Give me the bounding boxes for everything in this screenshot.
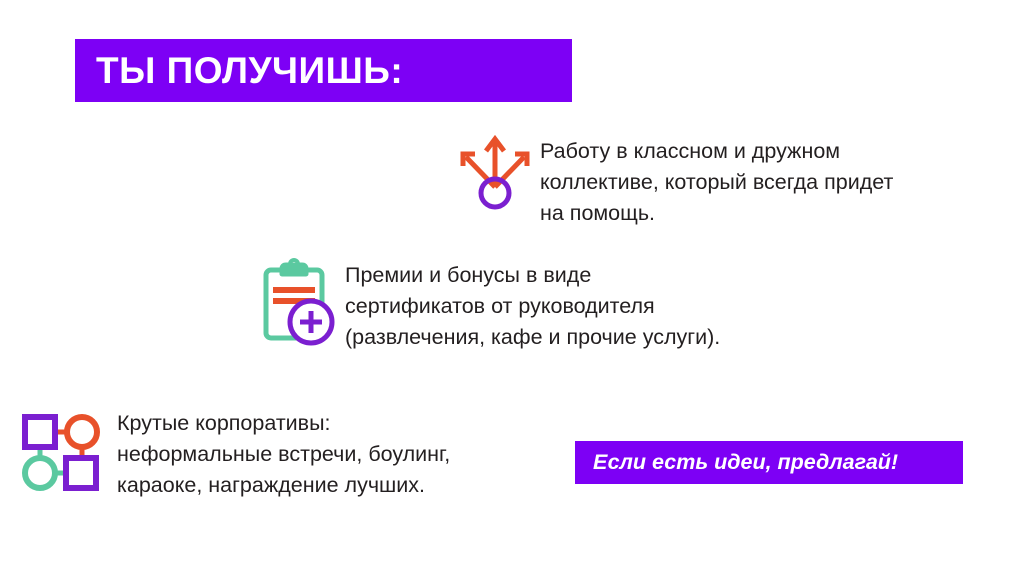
benefit-text-line: неформальные встречи, боулинг, xyxy=(117,439,450,470)
page-title-banner: ТЫ ПОЛУЧИШЬ: xyxy=(75,39,572,102)
clipboard-plus-bonus-icon-svg xyxy=(258,256,342,352)
three-arrows-teamwork-icon xyxy=(452,130,538,215)
network-nodes-corporate-icon xyxy=(14,408,104,497)
clipboard-plus-bonus-icon xyxy=(258,256,342,357)
benefit-text-line: Работу в классном и дружном xyxy=(540,136,893,167)
benefit-text-line: Премии и бонусы в виде xyxy=(345,260,720,291)
three-arrows-teamwork-icon-svg xyxy=(452,130,538,210)
benefit-item-bonuses: Премии и бонусы в виде сертификатов от р… xyxy=(345,260,720,353)
callout-text: Если есть идеи, предлагай! xyxy=(575,452,898,474)
benefit-text-line: Крутые корпоративы: xyxy=(117,408,450,439)
benefit-text-line: (развлечения, кафе и прочие услуги). xyxy=(345,322,720,353)
benefit-item-team: Работу в классном и дружном коллективе, … xyxy=(540,136,893,229)
benefit-text-line: коллективе, который всегда придет xyxy=(540,167,893,198)
benefit-text-line: сертификатов от руководителя xyxy=(345,291,720,322)
slide-canvas: ТЫ ПОЛУЧИШЬ: Работу в классном и дружном xyxy=(0,0,1024,574)
page-title: ТЫ ПОЛУЧИШЬ: xyxy=(75,52,403,89)
benefit-item-corporate-events: Крутые корпоративы: неформальные встречи… xyxy=(117,408,450,501)
benefit-text-line: караоке, награждение лучших. xyxy=(117,470,450,501)
callout-banner: Если есть идеи, предлагай! xyxy=(575,441,963,484)
benefit-text-line: на помощь. xyxy=(540,198,893,229)
network-nodes-corporate-icon-svg xyxy=(14,408,104,492)
